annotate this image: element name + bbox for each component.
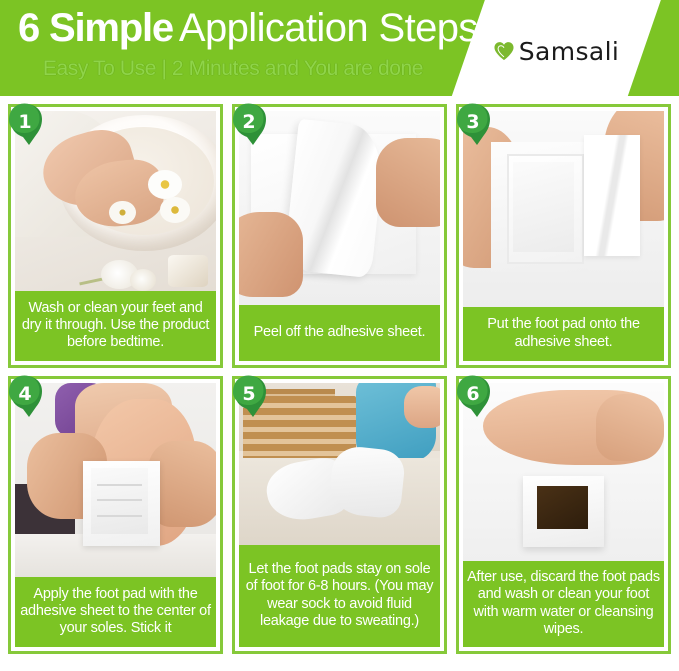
heart-icon: [493, 41, 515, 61]
title-light-part: Application Steps: [179, 6, 478, 50]
steps-row-bottom: 4 Apply the foot pad with the adhesive s…: [0, 368, 679, 654]
step-number-5: 5: [229, 373, 269, 415]
step-card-3[interactable]: 3 Put the foot pad onto the adhesive she…: [456, 104, 671, 368]
step-caption-2: Peel off the adhesive sheet.: [239, 305, 440, 361]
step-number-4: 4: [5, 373, 45, 415]
page-title: 6 SimpleApplication Steps: [18, 8, 478, 48]
step-caption-6: After use, discard the foot pads and was…: [463, 561, 664, 647]
step-number-3: 3: [453, 101, 493, 143]
step-card-1[interactable]: 1 Wash or clean your feet and dry it thr…: [8, 104, 223, 368]
step-number-badge-4: 4: [5, 373, 53, 425]
step-caption-4: Apply the foot pad with the adhesive she…: [15, 577, 216, 647]
step-caption-3: Put the foot pad onto the adhesive sheet…: [463, 307, 664, 361]
step-number-2: 2: [229, 101, 269, 143]
step-card-4[interactable]: 4 Apply the foot pad with the adhesive s…: [8, 376, 223, 654]
header-banner: 6 SimpleApplication Steps Easy To Use | …: [0, 0, 679, 96]
step-number-6: 6: [453, 373, 493, 415]
brand-name: Samsali: [519, 37, 620, 66]
step-card-2[interactable]: 2 Peel off the adhesive sheet.: [232, 104, 447, 368]
brand-logo-panel: Samsali: [449, 0, 663, 96]
header-text-block: 6 SimpleApplication Steps Easy To Use | …: [18, 8, 478, 81]
step-number-1: 1: [5, 101, 45, 143]
step-caption-1: Wash or clean your feet and dry it throu…: [15, 291, 216, 361]
step-number-badge-2: 2: [229, 101, 277, 153]
title-bold-part: 6 Simple: [18, 6, 173, 50]
step-caption-5: Let the foot pads stay on sole of foot f…: [239, 545, 440, 647]
step-number-badge-5: 5: [229, 373, 277, 425]
steps-row-top: 1 Wash or clean your feet and dry it thr…: [0, 96, 679, 368]
step-card-5[interactable]: 5 Let the foot pads stay on sole of foot…: [232, 376, 447, 654]
page-subtitle: Easy To Use | 2 Minutes and You are done: [18, 57, 448, 81]
step-card-6[interactable]: 6 After use, discard the foot pads and w…: [456, 376, 671, 654]
steps-grid: 1 Wash or clean your feet and dry it thr…: [0, 96, 679, 671]
step-number-badge-3: 3: [453, 101, 501, 153]
step-number-badge-1: 1: [5, 101, 53, 153]
step-number-badge-6: 6: [453, 373, 501, 425]
